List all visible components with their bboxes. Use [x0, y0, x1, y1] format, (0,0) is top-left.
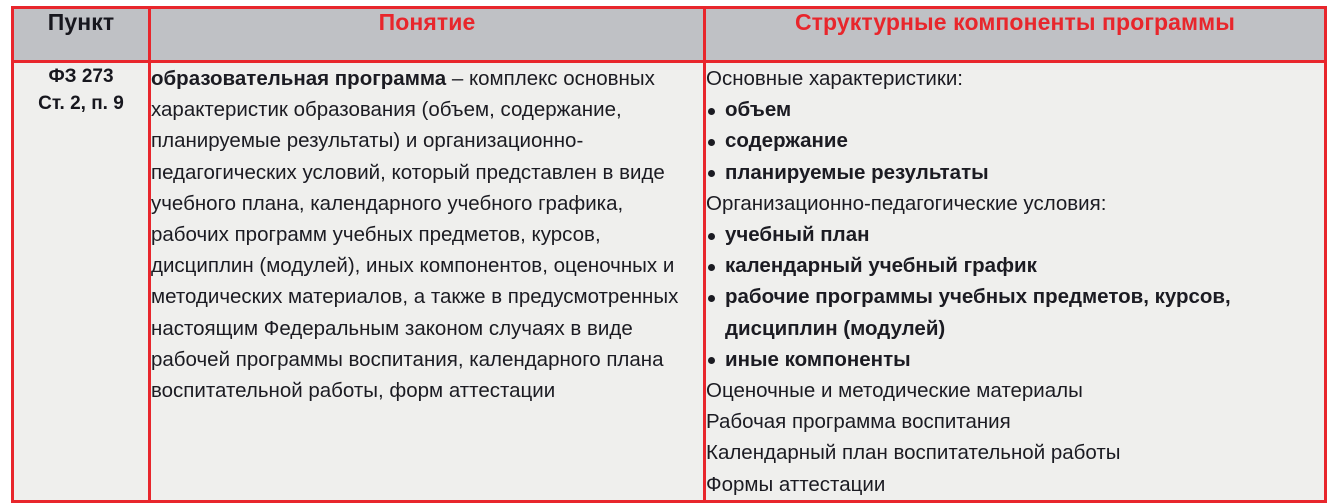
cell-komponenty: Основные характеристики:объемсодержаниеп…: [705, 62, 1326, 502]
component-heading-item: Организационно-педагогические условия:: [706, 188, 1324, 219]
component-bullet-item: иные компоненты: [706, 344, 1324, 375]
punkt-law-number: ФЗ 273: [14, 63, 148, 90]
cell-punkt: ФЗ 273 Ст. 2, п. 9: [13, 62, 150, 502]
header-row: Пункт Понятие Структурные компоненты про…: [13, 8, 1326, 62]
column-header-komponenty: Структурные компоненты программы: [705, 8, 1326, 62]
column-header-ponyatie: Понятие: [150, 8, 705, 62]
components-list: Основные характеристики:объемсодержаниеп…: [706, 63, 1324, 500]
component-heading-item: Календарный план воспитательной работы: [706, 437, 1324, 468]
program-definition-table-container: Пункт Понятие Структурные компоненты про…: [11, 6, 1327, 493]
program-definition-table: Пункт Понятие Структурные компоненты про…: [11, 6, 1327, 503]
component-heading-item: Основные характеристики:: [706, 63, 1324, 94]
table-header: Пункт Понятие Структурные компоненты про…: [13, 8, 1326, 62]
component-bullet-item: планируемые результаты: [706, 157, 1324, 188]
column-header-punkt: Пункт: [13, 8, 150, 62]
component-heading-item: Рабочая программа воспитания: [706, 406, 1324, 437]
definition-text: – комплекс основных характеристик образо…: [151, 67, 678, 402]
definition-paragraph: образовательная программа – комплекс осн…: [151, 63, 703, 406]
component-bullet-item: объем: [706, 94, 1324, 125]
punkt-article: Ст. 2, п. 9: [14, 90, 148, 117]
component-bullet-item: учебный план: [706, 219, 1324, 250]
cell-ponyatie: образовательная программа – комплекс осн…: [150, 62, 705, 502]
component-heading-item: Оценочные и методические материалы: [706, 375, 1324, 406]
definition-term: образовательная программа: [151, 67, 446, 90]
component-bullet-item: календарный учебный график: [706, 250, 1324, 281]
table-body: ФЗ 273 Ст. 2, п. 9 образовательная прогр…: [13, 62, 1326, 502]
table-row: ФЗ 273 Ст. 2, п. 9 образовательная прогр…: [13, 62, 1326, 502]
component-bullet-item: рабочие программы учебных предметов, кур…: [706, 281, 1324, 343]
component-heading-item: Формы аттестации: [706, 469, 1324, 500]
component-bullet-item: содержание: [706, 125, 1324, 156]
